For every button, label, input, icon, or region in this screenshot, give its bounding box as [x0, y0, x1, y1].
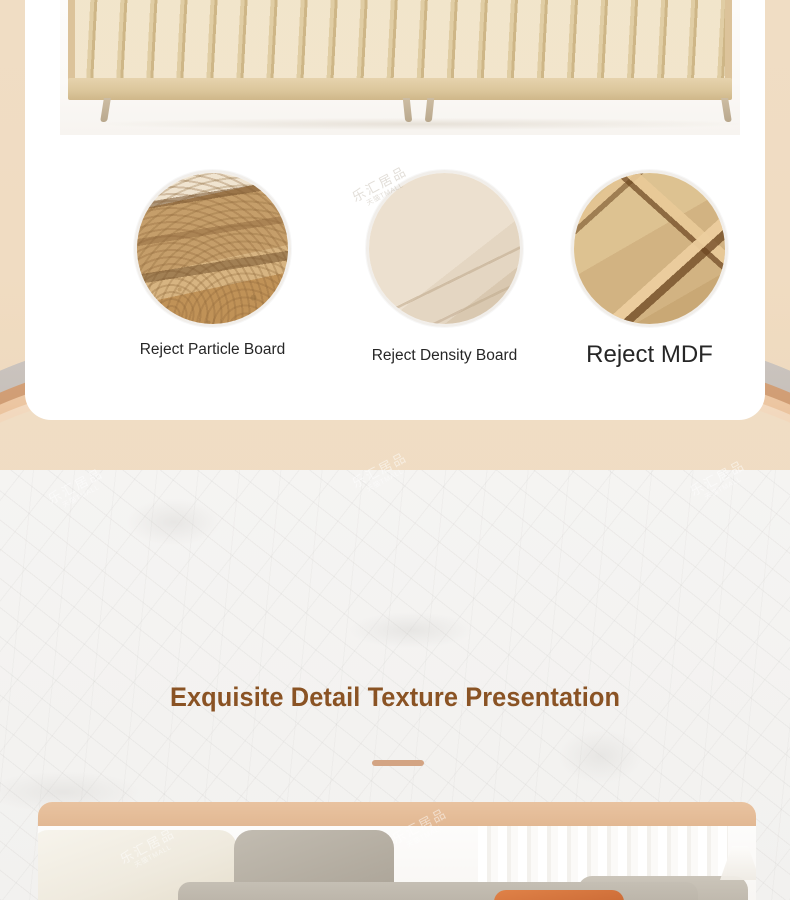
orange-lumbar-pillow	[494, 890, 624, 900]
material-item-particle-board: Reject Particle Board	[125, 170, 300, 360]
product-detail-page: Reject Particle Board Reject Density Boa…	[0, 0, 790, 900]
rejected-materials-list: Reject Particle Board Reject Density Boa…	[50, 170, 765, 300]
density-board-texture	[366, 170, 523, 327]
material-label-density-board: Reject Density Board	[357, 347, 532, 366]
material-item-mdf: Reject MDF	[562, 170, 737, 370]
density-board-swatch-icon	[366, 170, 523, 327]
section-title: Exquisite Detail Texture Presentation	[24, 682, 767, 713]
bed-slats	[75, 0, 725, 85]
bed-drop-shadow	[100, 118, 740, 130]
sofa-detail-card	[38, 802, 756, 900]
particle-board-swatch-icon	[134, 170, 291, 327]
bed-side-rail	[68, 78, 732, 100]
material-item-density-board: Reject Density Board	[357, 170, 532, 366]
material-comparison-card: Reject Particle Board Reject Density Boa…	[25, 0, 765, 420]
material-label-particle-board: Reject Particle Board	[125, 341, 300, 360]
mdf-board-swatch-icon	[571, 170, 728, 327]
mdf-board-texture	[571, 170, 728, 327]
particle-board-texture	[134, 170, 291, 327]
card-top-strip	[38, 802, 756, 826]
bed-frame-photo	[60, 0, 740, 135]
sofa-photo	[38, 826, 756, 900]
section-divider	[372, 760, 424, 766]
material-label-mdf: Reject MDF	[562, 341, 737, 370]
